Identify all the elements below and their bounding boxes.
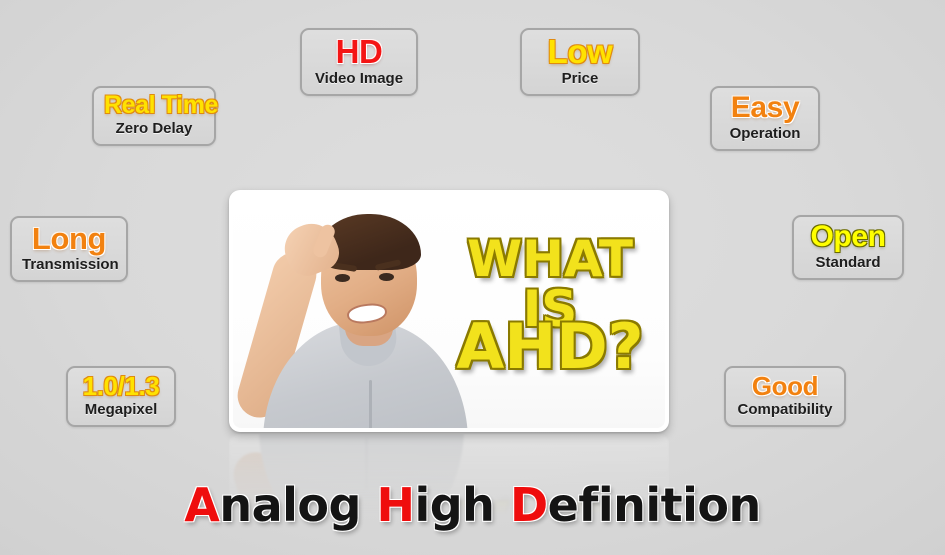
badge-title: Good bbox=[736, 373, 834, 400]
badge-subtitle: Operation bbox=[722, 125, 808, 144]
badge-title: Real Time bbox=[104, 93, 204, 119]
headline-text: efinition bbox=[548, 478, 761, 532]
feature-badge-realtime[interactable]: Real Time Zero Delay bbox=[92, 86, 216, 146]
badge-title: Low bbox=[532, 35, 628, 69]
badge-subtitle: Video Image bbox=[312, 70, 406, 89]
badge-subtitle: Price bbox=[532, 70, 628, 89]
feature-badge-low[interactable]: Low Price bbox=[520, 28, 640, 96]
photo-eye-right bbox=[379, 273, 394, 281]
hero-photo: WHAT IS AHD? bbox=[233, 194, 665, 428]
feature-badge-hd[interactable]: HD Video Image bbox=[300, 28, 418, 96]
photo-headline-line2: AHD? bbox=[445, 316, 655, 378]
infographic-canvas: HD Video Image Low Price Real Time Zero … bbox=[0, 0, 945, 555]
headline-text: nalog bbox=[219, 478, 376, 532]
badge-title: Long bbox=[22, 223, 116, 255]
feature-badge-easy[interactable]: Easy Operation bbox=[710, 86, 820, 151]
feature-badge-megapixel[interactable]: 1.0/1.3 Megapixel bbox=[66, 366, 176, 427]
headline-accent-letter: H bbox=[376, 478, 414, 532]
headline-accent-letter: D bbox=[510, 478, 548, 532]
headline-text: igh bbox=[414, 478, 509, 532]
badge-subtitle: Standard bbox=[804, 254, 892, 273]
photo-shirt-line bbox=[369, 380, 372, 428]
feature-badge-long[interactable]: Long Transmission bbox=[10, 216, 128, 282]
badge-title: 1.0/1.3 bbox=[78, 373, 164, 400]
badge-title: Easy bbox=[722, 93, 808, 124]
badge-title: HD bbox=[312, 35, 406, 69]
badge-subtitle: Megapixel bbox=[78, 401, 164, 420]
hero-photo-card[interactable]: WHAT IS AHD? bbox=[229, 190, 669, 432]
badge-title: Open bbox=[804, 222, 892, 253]
feature-badge-good[interactable]: Good Compatibility bbox=[724, 366, 846, 427]
badge-subtitle: Transmission bbox=[22, 256, 116, 275]
headline-accent-letter: A bbox=[184, 478, 219, 532]
feature-badge-open[interactable]: Open Standard bbox=[792, 215, 904, 280]
photo-eye-left bbox=[335, 274, 350, 282]
page-title: Analog High Definition bbox=[0, 478, 945, 532]
badge-subtitle: Compatibility bbox=[736, 401, 834, 420]
badge-subtitle: Zero Delay bbox=[104, 120, 204, 139]
